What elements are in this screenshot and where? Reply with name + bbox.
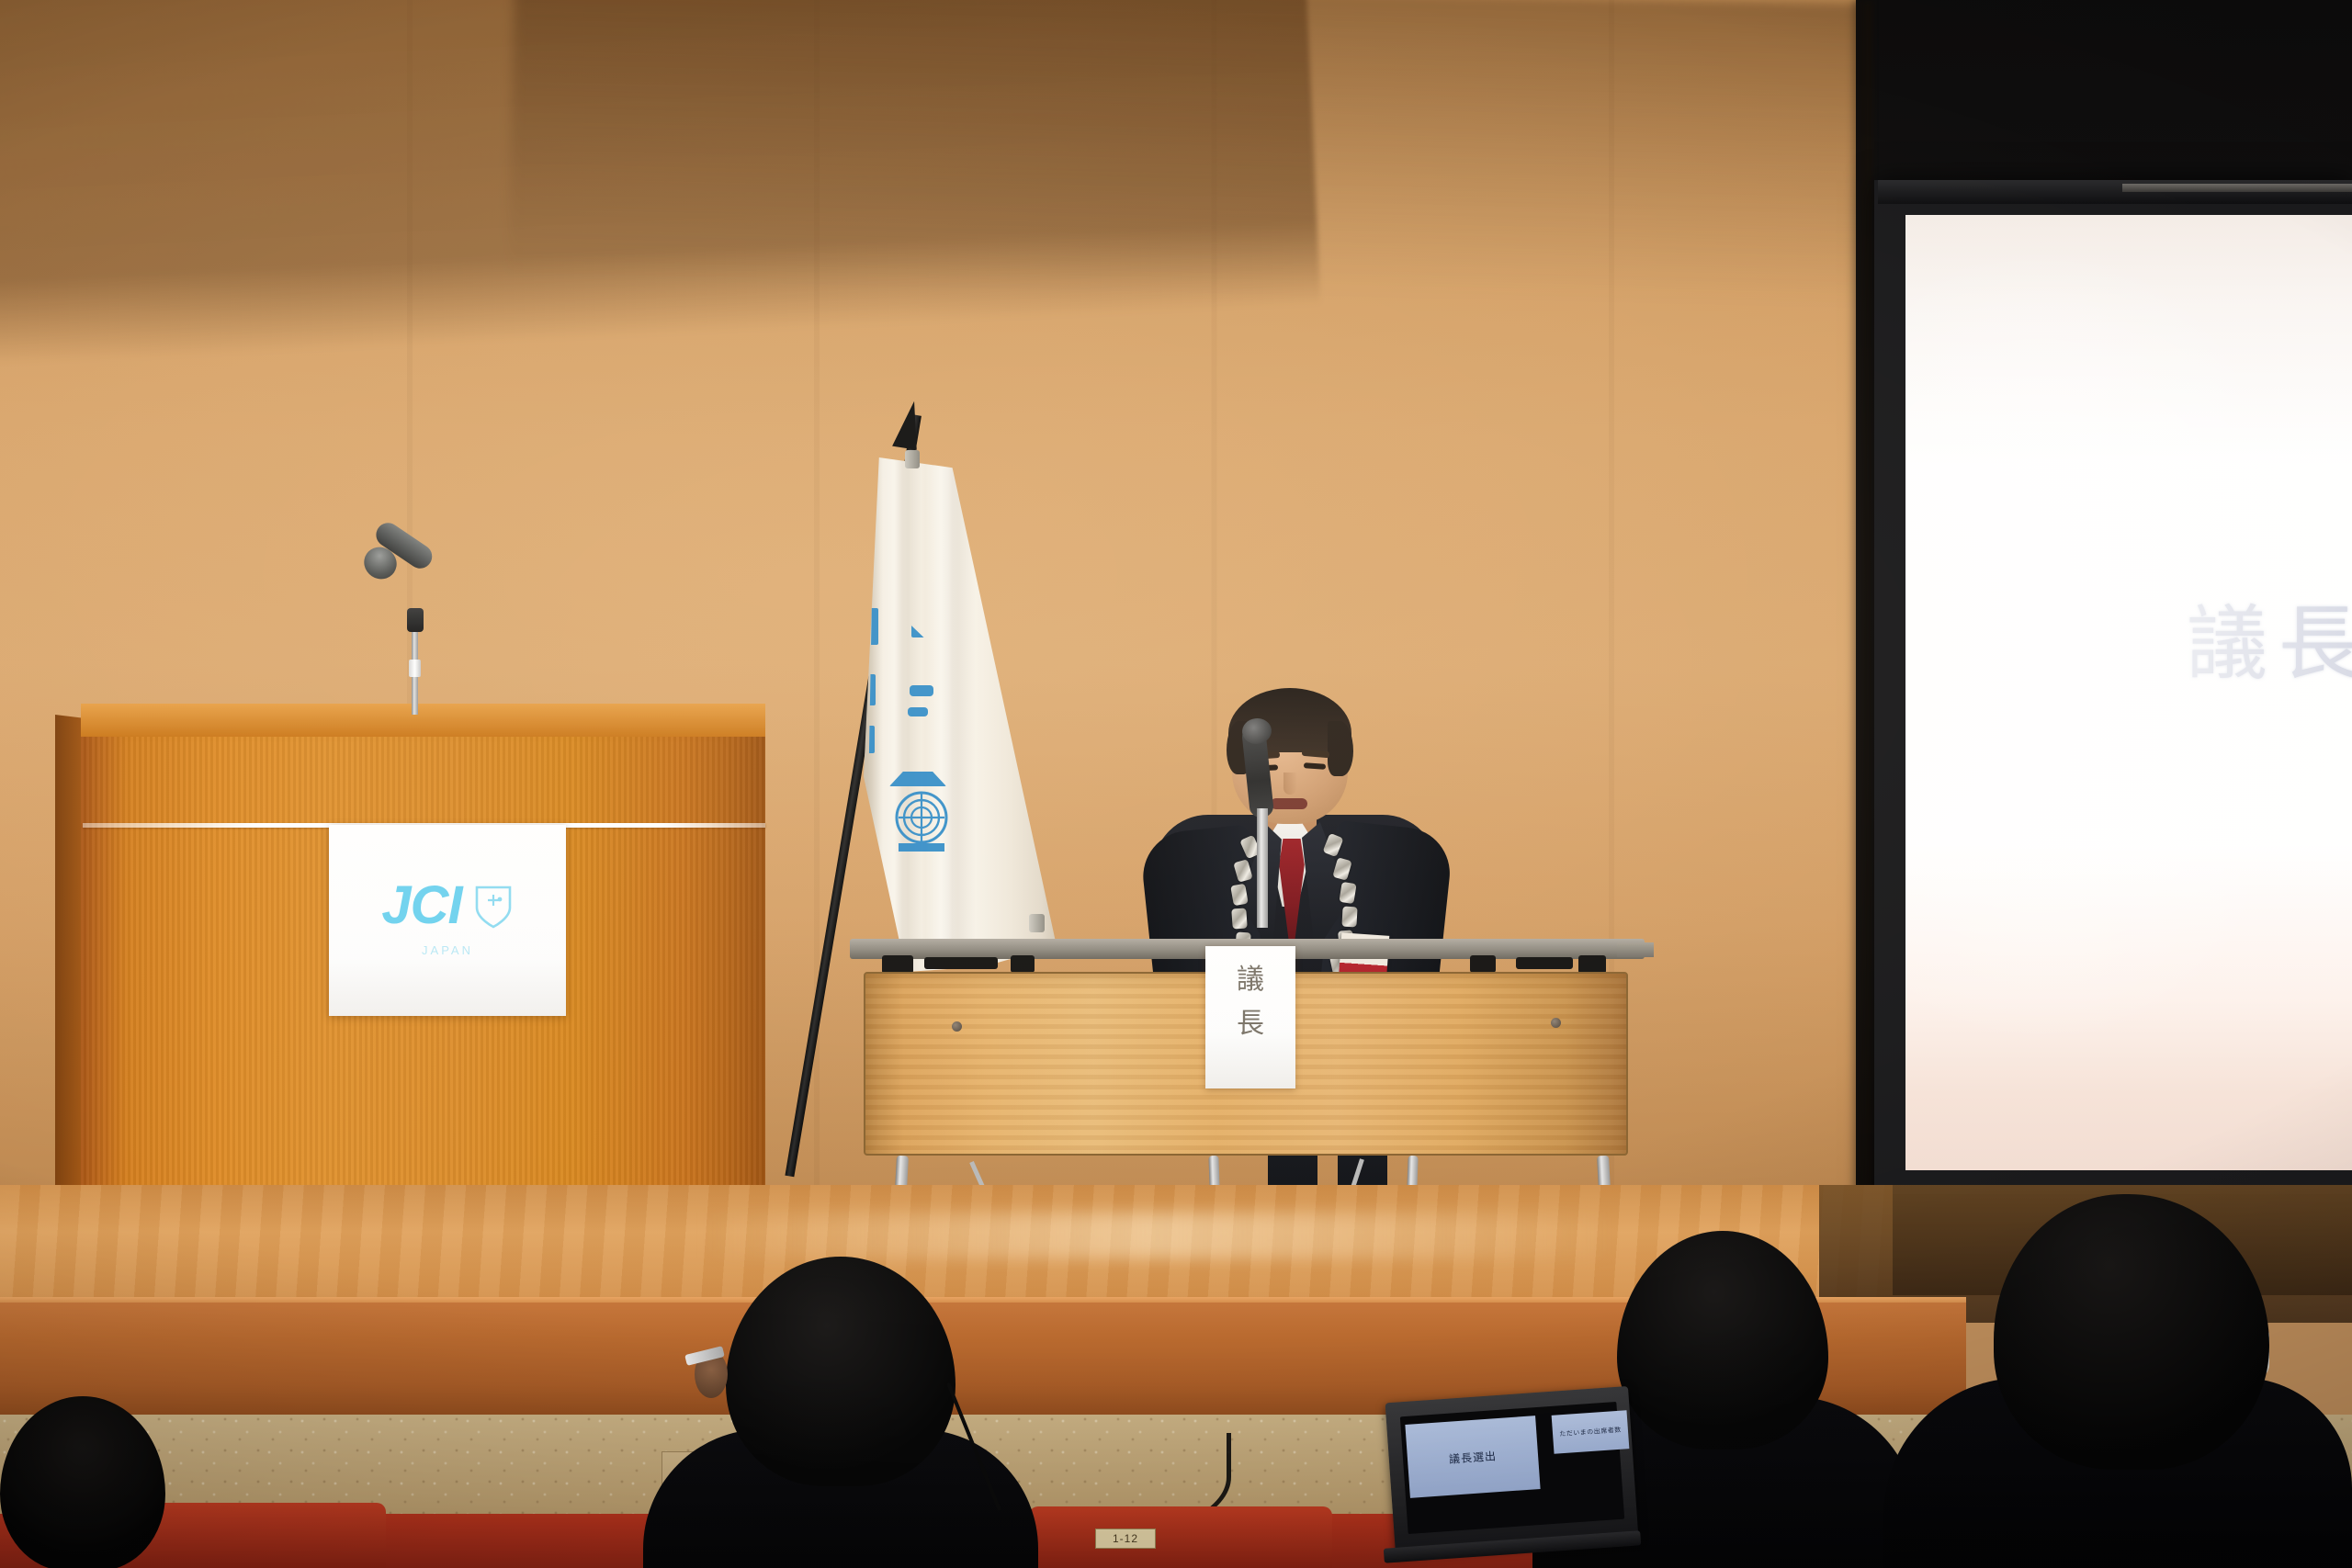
laptop-slide-panel: 議長選出	[1405, 1416, 1540, 1498]
chain-link	[1341, 907, 1357, 928]
jci-sign-subtitle: JAPAN	[422, 943, 473, 957]
stage-photo-scene: 議長選 JCI JAPAN	[0, 0, 2352, 1568]
audience-seat	[1029, 1506, 1332, 1568]
chain-link	[1339, 882, 1356, 904]
chain-link	[1231, 908, 1247, 929]
flag-clip-bottom	[1029, 914, 1045, 932]
lectern-top-surface	[81, 704, 765, 737]
projection-screen-rail	[2122, 184, 2352, 192]
table-screw	[1551, 1018, 1561, 1028]
laptop-slide-title: 議長選出	[1448, 1448, 1497, 1467]
jci-shield-icon	[473, 882, 514, 930]
podium-microphone-collar	[409, 660, 421, 677]
nameplate-char-1: 議	[1237, 966, 1264, 994]
jci-logo-sign: JCI JAPAN	[329, 825, 566, 1016]
laptop-secondary-panel-text: ただいまの出席者数	[1559, 1426, 1622, 1439]
desk-microphone-stem	[1257, 808, 1268, 928]
chairperson-nameplate: 議 長	[1205, 946, 1295, 1089]
projection-screen-text: 議長選	[2187, 579, 2352, 695]
speaker-nose	[1283, 773, 1296, 795]
podium-microphone-joint	[407, 608, 424, 632]
speaker-mouth	[1271, 798, 1307, 809]
flag-clip-top	[905, 450, 920, 468]
jci-globe-icon	[893, 786, 950, 858]
table-screw	[952, 1021, 962, 1032]
dark-side-wall-edge	[1849, 0, 1872, 1286]
stage-floor-sheen	[698, 1213, 1617, 1258]
seat-number-tag: 1-12	[1095, 1529, 1156, 1549]
speaker-table-top-right	[1617, 942, 1654, 957]
nameplate-char-2: 長	[1237, 1010, 1264, 1038]
laptop-secondary-panel: ただいまの出席者数	[1552, 1410, 1630, 1454]
jci-wordmark: JCI	[381, 879, 461, 932]
